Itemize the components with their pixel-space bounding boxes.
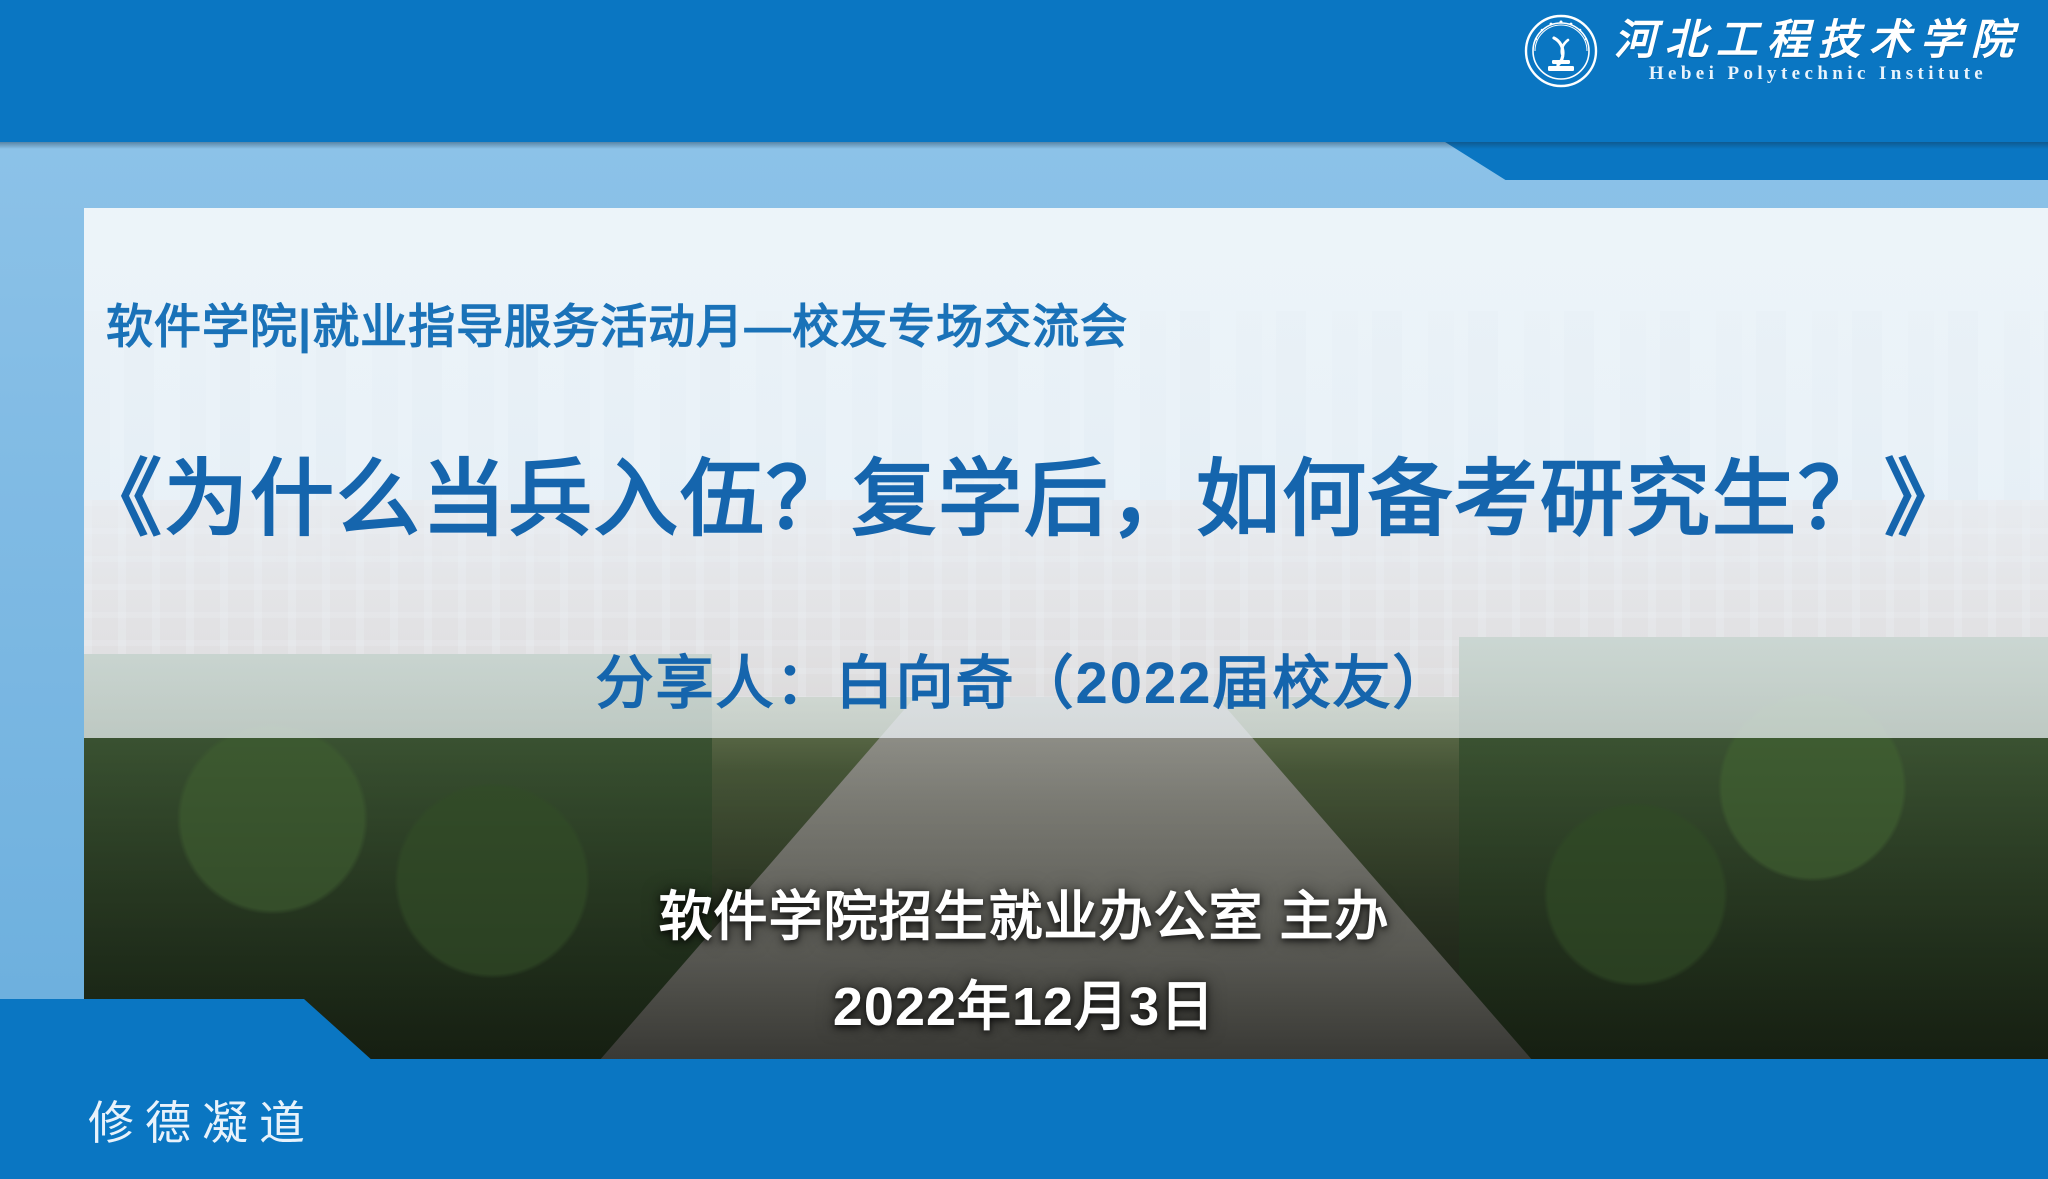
presentation-slide: 河北工程技术学院 Hebei Polytechnic Institute 软件学…: [0, 0, 2048, 1179]
event-series-line: 软件学院|就业指导服务活动月—校友专场交流会: [106, 288, 1128, 357]
institute-name-cn: 河北工程技术学院: [1614, 20, 2022, 62]
organizer-line: 软件学院招生就业办公室 主办: [0, 872, 2048, 951]
logo-text-group: 河北工程技术学院 Hebei Polytechnic Institute: [1614, 20, 2022, 83]
header-shadow: [0, 142, 2048, 149]
institute-name-en: Hebei Polytechnic Institute: [1649, 64, 1987, 83]
speaker-line: 分享人：白向奇（2022届校友）: [0, 636, 2048, 720]
institute-motto: 修德凝道: [88, 1087, 316, 1153]
slide-title: 《为什么当兵入伍？复学后，如何备考研究生？》: [0, 432, 2048, 553]
institute-logo: 河北工程技术学院 Hebei Polytechnic Institute: [1524, 14, 2022, 88]
university-crest-icon: [1524, 14, 1598, 88]
